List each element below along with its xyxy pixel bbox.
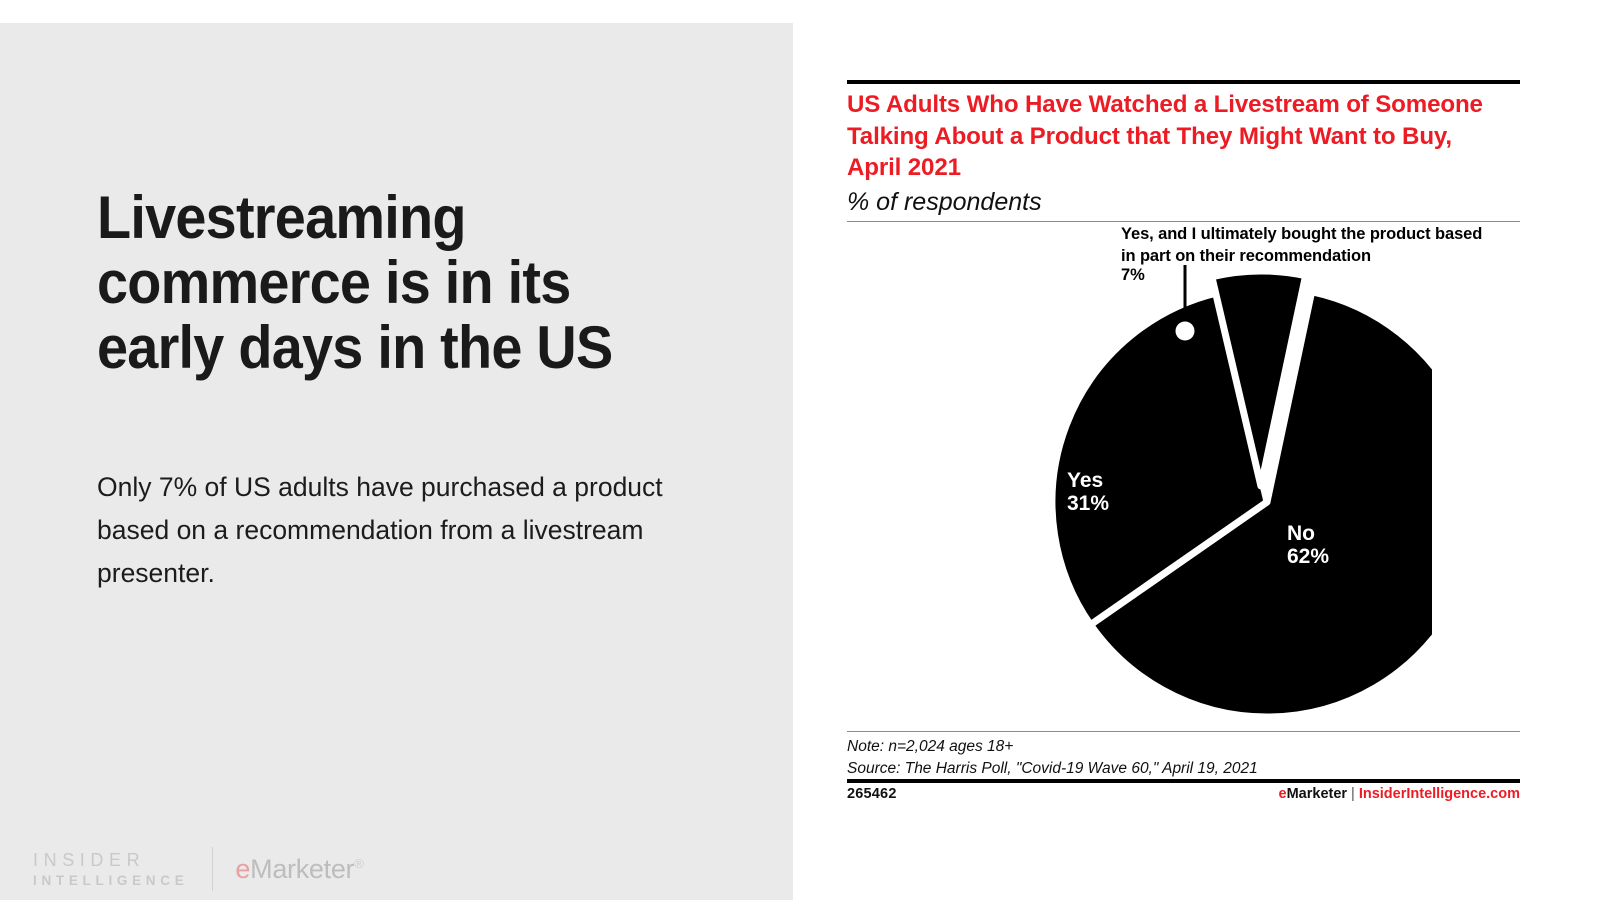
- footer-brand-name: Marketer: [1287, 786, 1347, 802]
- footer-brand-e: e: [1279, 786, 1287, 802]
- left-text-panel: Livestreaming commerce is in its early d…: [0, 23, 793, 900]
- logo-divider: [212, 847, 213, 891]
- emarketer-logo: eMarketer®: [235, 854, 363, 885]
- pie-chart-svg: Yes 31% No 62%: [932, 265, 1432, 725]
- emarketer-logo-e: e: [235, 854, 250, 884]
- summary-paragraph: Only 7% of US adults have purchased a pr…: [97, 466, 697, 595]
- pie-label-yes-name: Yes: [1067, 469, 1103, 492]
- footer-brand: eMarketer|InsiderIntelligence.com: [1279, 786, 1520, 802]
- callout-dot-marker: [1176, 322, 1195, 341]
- footer-brand-url[interactable]: InsiderIntelligence.com: [1359, 786, 1520, 802]
- note-top-rule: [847, 731, 1520, 732]
- pie-label-yes-value: 31%: [1067, 492, 1109, 515]
- chart-footnotes: Note: n=2,024 ages 18+ Source: The Harri…: [847, 736, 1258, 780]
- trademark-icon: ®: [354, 856, 363, 871]
- insider-intelligence-logo: INSIDER INTELLIGENCE: [33, 848, 188, 891]
- footer-top-rule: [847, 779, 1520, 783]
- chart-source: Source: The Harris Poll, "Covid-19 Wave …: [847, 758, 1258, 780]
- page-title: Livestreaming commerce is in its early d…: [97, 186, 664, 380]
- insider-intelligence-logo-bottom: INTELLIGENCE: [33, 872, 188, 890]
- slide-root: Livestreaming commerce is in its early d…: [0, 0, 1600, 900]
- pie-label-no-name: No: [1287, 522, 1315, 545]
- emarketer-logo-name: Marketer: [250, 854, 354, 884]
- chart-id: 265462: [847, 786, 897, 802]
- insider-intelligence-logo-top: INSIDER: [33, 848, 188, 872]
- footer-brand-separator: |: [1347, 786, 1359, 802]
- chart-panel: US Adults Who Have Watched a Livestream …: [847, 0, 1520, 900]
- chart-note: Note: n=2,024 ages 18+: [847, 736, 1258, 758]
- pie-label-no-value: 62%: [1287, 545, 1329, 568]
- brand-logo-lockup: INSIDER INTELLIGENCE eMarketer®: [33, 845, 364, 893]
